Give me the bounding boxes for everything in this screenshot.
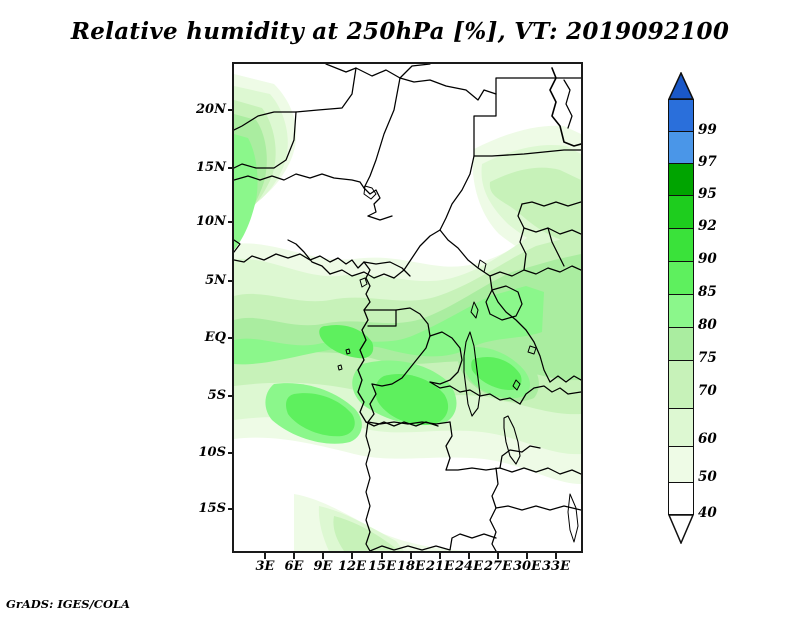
x-tick-mark: [526, 553, 528, 559]
map-canvas: [234, 64, 581, 551]
map-plot-area[interactable]: [232, 62, 583, 553]
y-tick-mark: [228, 395, 234, 397]
y-tick-mark: [228, 167, 234, 169]
colorbar-label-99: 99: [698, 124, 717, 137]
page-title: Relative humidity at 250hPa [%], VT: 201…: [0, 18, 800, 45]
colorbar-label-70: 70: [698, 385, 717, 398]
y-tick-label-15S: 15S: [178, 502, 226, 515]
y-tick-mark: [228, 221, 234, 223]
x-tick-label-33E: 33E: [536, 560, 576, 573]
x-tick-mark: [410, 553, 412, 559]
colorbar-segments[interactable]: [668, 99, 694, 515]
colorbar-min-arrow: [668, 514, 694, 544]
x-tick-mark: [264, 553, 266, 559]
grads-figure-root: Relative humidity at 250hPa [%], VT: 201…: [0, 0, 800, 618]
y-tick-mark: [228, 508, 234, 510]
y-tick-label-EQ: EQ: [178, 331, 226, 344]
colorbar-segment-97[interactable]: [669, 132, 693, 164]
y-tick-mark: [228, 337, 234, 339]
colorbar[interactable]: 99 97 95 92 90 85 80 75 70 60 50 40: [668, 72, 694, 542]
y-tick-mark: [228, 280, 234, 282]
y-tick-label-5S: 5S: [178, 389, 226, 402]
x-tick-mark: [351, 553, 353, 559]
grads-attribution: GrADS: IGES/COLA: [6, 597, 130, 611]
colorbar-label-50: 50: [698, 471, 717, 484]
colorbar-label-80: 80: [698, 319, 717, 332]
y-tick-label-15N: 15N: [178, 161, 226, 174]
colorbar-max-arrow: [668, 72, 694, 100]
y-tick-mark: [228, 452, 234, 454]
colorbar-label-92: 92: [698, 220, 717, 233]
x-tick-mark: [497, 553, 499, 559]
colorbar-segment-60[interactable]: [669, 409, 693, 447]
colorbar-segment-85[interactable]: [669, 262, 693, 295]
colorbar-segment-99[interactable]: [669, 100, 693, 132]
colorbar-segment-70[interactable]: [669, 361, 693, 409]
y-tick-mark: [228, 109, 234, 111]
x-tick-mark: [322, 553, 324, 559]
colorbar-segment-95[interactable]: [669, 164, 693, 196]
colorbar-label-60: 60: [698, 433, 717, 446]
colorbar-segment-75[interactable]: [669, 328, 693, 361]
x-tick-mark: [555, 553, 557, 559]
colorbar-label-40: 40: [698, 507, 717, 520]
colorbar-label-97: 97: [698, 156, 717, 169]
y-tick-label-10N: 10N: [178, 215, 226, 228]
x-tick-mark: [439, 553, 441, 559]
x-tick-mark: [293, 553, 295, 559]
colorbar-label-75: 75: [698, 352, 717, 365]
colorbar-label-90: 90: [698, 253, 717, 266]
colorbar-segment-80[interactable]: [669, 295, 693, 328]
y-tick-label-10S: 10S: [178, 446, 226, 459]
colorbar-segment-40[interactable]: [669, 483, 693, 513]
colorbar-segment-92[interactable]: [669, 196, 693, 229]
colorbar-segment-50[interactable]: [669, 447, 693, 483]
colorbar-label-85: 85: [698, 286, 717, 299]
colorbar-label-95: 95: [698, 188, 717, 201]
x-tick-mark: [381, 553, 383, 559]
y-tick-label-20N: 20N: [178, 103, 226, 116]
y-tick-label-5N: 5N: [178, 274, 226, 287]
x-tick-mark: [468, 553, 470, 559]
colorbar-segment-90[interactable]: [669, 229, 693, 262]
